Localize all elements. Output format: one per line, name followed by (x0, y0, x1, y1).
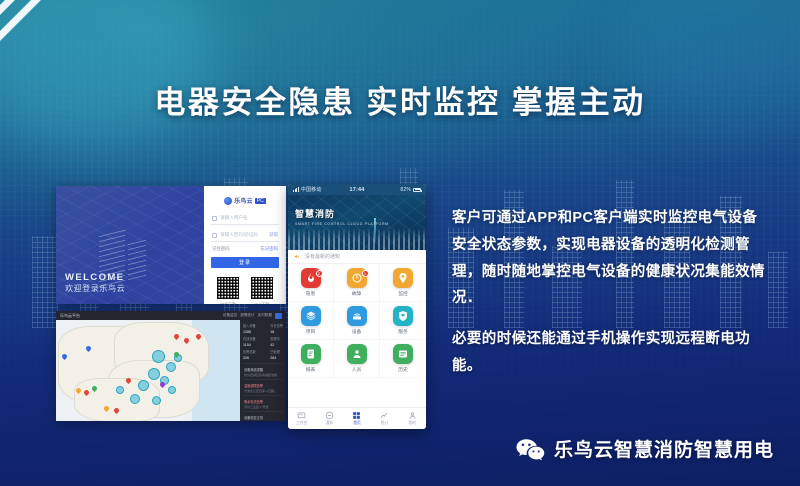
qr-caption: iOS下载 (250, 302, 274, 304)
app-cell-device[interactable]: 设备 (334, 302, 380, 340)
phone-status-bar: 中国移动 17:44 82% (288, 184, 426, 195)
phone-mockup: 中国移动 17:44 82% 智慧消防 SMART FIRE CONTROL C… (288, 184, 426, 429)
get-code-link[interactable]: 获取 (269, 232, 278, 238)
notification-badge: 1 (362, 270, 369, 277)
tab-label: 统计 (381, 421, 389, 426)
user-icon (212, 216, 217, 221)
map-cluster[interactable] (138, 380, 149, 391)
qr-code-group: 安卓下载 iOS下载 (211, 276, 279, 304)
status-time: 17:44 (288, 187, 426, 193)
map-event-row[interactable]: 设备离线提醒 杭州西湖区某商铺配电箱 (243, 363, 283, 379)
phone-tab-bar: 工作台 通知 首页 统计 我的 (288, 407, 426, 429)
map-stats-col-right: 今日告警 18 处理中 42 已处理 284 (270, 323, 283, 360)
qr-ios: iOS下载 (250, 276, 274, 304)
app-cell-history[interactable]: 历史 (380, 340, 426, 378)
map-cluster[interactable] (152, 350, 165, 363)
megaphone-icon (294, 253, 301, 260)
map-cluster[interactable] (166, 362, 176, 372)
map-pin[interactable] (184, 338, 189, 345)
event-detail: 苏州工业园 3 号楼 (244, 405, 282, 409)
report-icon (301, 344, 321, 364)
welcome-en: WELCOME (65, 272, 125, 284)
login-logo-tag: PC (255, 198, 266, 204)
map-cluster[interactable] (130, 394, 140, 404)
stat-value: 42 (270, 343, 283, 347)
stat-label: 在线设备 (243, 336, 256, 341)
map-pin[interactable] (126, 378, 131, 385)
map-pin[interactable] (160, 382, 165, 389)
app-cell-monitor[interactable]: 监控 (380, 264, 426, 302)
notice-text: 没有最新的通知 (305, 253, 340, 260)
event-detail: 杭州西湖区某商铺配电箱 (244, 373, 282, 377)
username-placeholder: 请输入用户名 (220, 215, 248, 221)
map-pin[interactable] (84, 390, 89, 397)
hero-title-block: 智慧消防 SMART FIRE CONTROL CLOUD PLATFORM (295, 207, 389, 226)
app-label: 项目 (306, 328, 316, 335)
hero-city-silhouette (288, 228, 426, 250)
welcome-cn: 欢迎登录乐鸟云 (65, 284, 125, 294)
qr-caption: 安卓下载 (216, 302, 240, 304)
brand-mark-icon (224, 197, 232, 205)
stat-value: 18 (270, 330, 283, 334)
map-event-row[interactable]: 设备恢复正常 南京江宁区厂房 2 号柜 (243, 411, 283, 421)
login-logo: 乐鸟云 PC (211, 196, 279, 205)
tab-label: 首页 (353, 421, 361, 426)
app-cell-report[interactable]: 报表 (288, 340, 334, 378)
pc-map-screenshot: 乐鸟云平台 设备监控 报警统计 实时数据 (56, 311, 286, 421)
footer-brand: 乐鸟云智慧消防智慧用电 (515, 435, 774, 462)
stat-label: 接入设备 (243, 323, 256, 328)
app-label: 设备 (352, 328, 362, 335)
tab-stats[interactable]: 统计 (371, 408, 399, 429)
map-event-row[interactable]: 温度超限告警 宁波北仑区仓库 A 回路 (243, 379, 283, 395)
battery-icon (413, 188, 421, 192)
glow-top-left (0, 0, 220, 150)
app-label: 人员 (352, 366, 362, 373)
map-pin[interactable] (196, 334, 201, 341)
user-icon (408, 411, 417, 420)
app-label: 隐患 (306, 290, 316, 297)
event-detail: 南京江宁区厂房 2 号柜 (244, 421, 282, 422)
stat-value: 1154 (243, 343, 256, 347)
stat-label: 已处理 (270, 349, 283, 354)
phone-notice-bar[interactable]: 没有最新的通知 (288, 250, 426, 264)
lock-icon (212, 233, 217, 238)
stat-label: 处理中 (270, 336, 283, 341)
login-options-row: 记住密码 忘记密码 (212, 246, 278, 252)
people-icon (347, 344, 367, 364)
login-button[interactable]: 登录 (211, 257, 279, 268)
qr-code-image (250, 276, 274, 300)
map-cluster[interactable] (148, 368, 160, 380)
toolbar-item-0[interactable]: 设备监控 (223, 313, 237, 318)
pc-login-building-2 (128, 238, 146, 280)
hero-title: 智慧消防 (295, 207, 389, 220)
message-icon (325, 411, 334, 420)
map-pin[interactable] (104, 406, 109, 413)
map-pin[interactable] (114, 408, 119, 415)
chart-icon (380, 411, 389, 420)
tab-label: 工作台 (296, 421, 307, 426)
app-cell-project[interactable]: 项目 (288, 302, 334, 340)
stat-label: 今日告警 (270, 323, 283, 328)
map-event-row[interactable]: 剩余电流告警 苏州工业园 3 号楼 (243, 395, 283, 411)
map-pin[interactable] (92, 386, 97, 393)
workbench-icon (297, 411, 306, 420)
layers-icon (301, 306, 321, 326)
app-label: 监控 (398, 290, 408, 297)
map-canvas[interactable] (56, 320, 240, 421)
app-label: 报表 (306, 366, 316, 373)
map-stats: 接入设备 1286 在线设备 1154 告警总数 326 今日告警 18 处理中… (243, 323, 283, 360)
event-detail: 宁波北仑区仓库 A 回路 (244, 389, 282, 393)
event-title: 设备恢复正常 (244, 415, 282, 420)
pc-welcome-block: WELCOME 欢迎登录乐鸟云 (65, 272, 125, 294)
phone-hero-banner: 智慧消防 SMART FIRE CONTROL CLOUD PLATFORM (288, 195, 426, 250)
tab-workbench[interactable]: 工作台 (288, 408, 316, 429)
tab-label: 通知 (326, 421, 334, 426)
description-block: 客户可通过APP和PC客户端实时监控电气设备安全状态参数，实现电器设备的透明化检… (452, 205, 772, 380)
toolbar-item-2[interactable]: 实时数据 (258, 313, 272, 318)
app-label: 历史 (398, 366, 408, 373)
event-title: 温度超限告警 (244, 383, 282, 388)
app-label: 故障 (352, 290, 362, 297)
event-title: 设备离线提醒 (244, 367, 282, 372)
map-cluster[interactable] (116, 386, 124, 394)
grid-icon (352, 411, 361, 420)
stat-value: 326 (243, 356, 256, 360)
stat-value: 284 (270, 356, 283, 360)
map-brand-label: 乐鸟云平台 (60, 313, 80, 319)
map-cluster[interactable] (168, 386, 176, 394)
app-cell-service[interactable]: 服务 (380, 302, 426, 340)
tab-label: 我的 (408, 421, 416, 426)
description-paragraph-1: 客户可通过APP和PC客户端实时监控电气设备安全状态参数，实现电器设备的透明化检… (452, 205, 772, 312)
location-icon (393, 268, 413, 288)
tab-home[interactable]: 首页 (343, 408, 371, 429)
description-paragraph-2: 必要的时候还能通过手机操作实现远程断电功能。 (452, 326, 772, 380)
app-label: 服务 (398, 328, 408, 335)
tab-notice[interactable]: 通知 (316, 408, 344, 429)
forgot-password-link[interactable]: 忘记密码 (260, 246, 278, 252)
shield-icon (393, 306, 413, 326)
map-pin[interactable] (174, 352, 179, 359)
stat-value: 1286 (243, 330, 256, 334)
brand-name: 乐鸟云智慧消防智慧用电 (554, 435, 774, 462)
tab-profile[interactable]: 我的 (398, 408, 426, 429)
app-cell-people[interactable]: 人员 (334, 340, 380, 378)
map-sidebar: 接入设备 1286 在线设备 1154 告警总数 326 今日告警 18 处理中… (240, 320, 286, 421)
map-pin[interactable] (174, 334, 179, 341)
toolbar-item-1[interactable]: 报警统计 (240, 313, 254, 318)
qr-code-image (216, 276, 240, 300)
history-icon (393, 344, 413, 364)
router-icon (347, 306, 367, 326)
app-cell-fault[interactable]: 故障 1 (334, 264, 380, 302)
event-title: 剩余电流告警 (244, 399, 282, 404)
password-field[interactable]: 请输入密码/验证码 获取 (211, 229, 279, 242)
username-field[interactable]: 请输入用户名 (211, 212, 279, 225)
phone-app-grid: 隐患 2 故障 1 监控 项目 (288, 264, 426, 378)
app-cell-hazard[interactable]: 隐患 2 (288, 264, 334, 302)
login-logo-text: 乐鸟云 (234, 196, 253, 205)
map-pin[interactable] (86, 346, 91, 353)
map-settings-icon[interactable] (275, 313, 282, 319)
map-pin[interactable] (76, 388, 81, 395)
wechat-icon (515, 437, 545, 461)
map-stats-col-left: 接入设备 1286 在线设备 1154 告警总数 326 (243, 323, 256, 360)
notification-badge: 2 (316, 270, 323, 277)
poster-root: 电器安全隐患 实时监控 掌握主动 WELCOME 欢迎登录乐鸟云 乐鸟云 PC … (0, 0, 800, 486)
stat-label: 告警总数 (243, 349, 256, 354)
map-pin[interactable] (62, 354, 67, 361)
map-toolbar: 乐鸟云平台 设备监控 报警统计 实时数据 (56, 311, 286, 320)
map-cluster[interactable] (152, 396, 161, 405)
qr-android: 安卓下载 (216, 276, 240, 304)
login-card: 乐鸟云 PC 请输入用户名 请输入密码/验证码 获取 记住密码 忘记密码 登录 (204, 186, 286, 304)
page-title: 电器安全隐患 实时监控 掌握主动 (0, 77, 800, 122)
hero-subtitle: SMART FIRE CONTROL CLOUD PLATFORM (295, 222, 389, 226)
password-placeholder: 请输入密码/验证码 (220, 232, 258, 238)
remember-password-checkbox[interactable]: 记住密码 (212, 246, 230, 252)
pc-login-screenshot: WELCOME 欢迎登录乐鸟云 乐鸟云 PC 请输入用户名 请输入密码/验证码 … (56, 186, 286, 304)
